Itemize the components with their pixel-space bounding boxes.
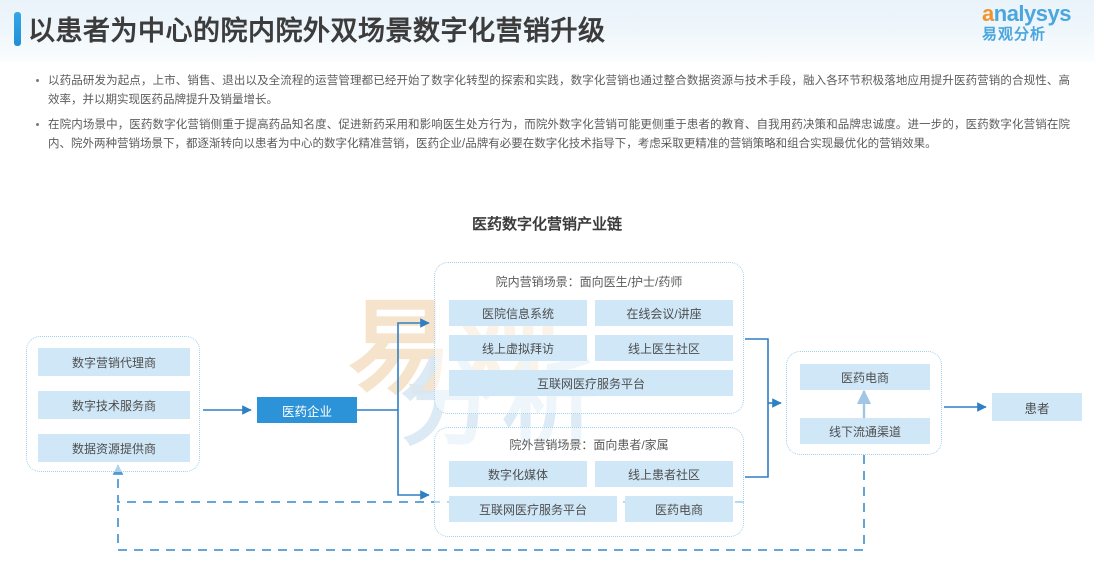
- pharma-enterprise-box[interactable]: 医药企业: [257, 397, 357, 423]
- logo-subtitle: 易观分析: [982, 26, 1094, 43]
- industry-chain-diagram: 医药数字化营销产业链 易观 分析 数字营销代理: [0, 205, 1094, 579]
- bullet-dot-icon: [36, 79, 39, 82]
- channel-group: 医药电商 线下流通渠道: [786, 351, 942, 455]
- in-hospital-item[interactable]: 线上虚拟拜访: [449, 335, 587, 361]
- bullet-item: 在院内场景中，医药数字化营销侧重于提高药品知名度、促进新药采用和影响医生处方行为…: [0, 116, 1094, 154]
- in-hospital-item[interactable]: 医院信息系统: [449, 300, 587, 326]
- in-hospital-header: 院内营销场景：面向医生/护士/药师: [435, 273, 743, 290]
- out-hospital-item[interactable]: 数字化媒体: [449, 461, 587, 487]
- logo-o-glyph: a: [982, 1, 994, 26]
- analysys-logo: analysys 易观分析: [982, 2, 1094, 48]
- logo-wordmark-text: nalysys: [994, 1, 1071, 26]
- page-title: 以患者为中心的院内院外双场景数字化营销升级: [28, 9, 606, 48]
- supplier-cell[interactable]: 数字营销代理商: [38, 348, 190, 376]
- out-hospital-item[interactable]: 线上患者社区: [595, 461, 733, 487]
- in-hospital-item[interactable]: 互联网医疗服务平台: [449, 370, 733, 396]
- logo-wordmark: analysys: [982, 2, 1094, 26]
- bullet-item: 以药品研发为起点，上市、销售、退出以及全流程的运营管理都已经开始了数字化转型的探…: [0, 72, 1094, 110]
- out-hospital-item[interactable]: 互联网医疗服务平台: [449, 496, 617, 522]
- supplier-cell[interactable]: 数字技术服务商: [38, 391, 190, 419]
- page-header: 以患者为中心的院内院外双场景数字化营销升级 analysys 易观分析: [0, 0, 1094, 62]
- suppliers-group: 数字营销代理商 数字技术服务商 数据资源提供商: [26, 336, 200, 472]
- out-hospital-group: 院外营销场景：面向患者/家属 数字化媒体 线上患者社区 互联网医疗服务平台 医药…: [434, 427, 744, 537]
- in-hospital-item[interactable]: 在线会议/讲座: [595, 300, 733, 326]
- supplier-cell[interactable]: 数据资源提供商: [38, 434, 190, 462]
- bullet-list: 以药品研发为起点，上市、销售、退出以及全流程的运营管理都已经开始了数字化转型的探…: [0, 72, 1094, 160]
- in-hospital-group: 院内营销场景：面向医生/护士/药师 医院信息系统 在线会议/讲座 线上虚拟拜访 …: [434, 262, 744, 414]
- patient-box[interactable]: 患者: [992, 393, 1082, 421]
- channel-item[interactable]: 医药电商: [800, 364, 930, 390]
- bullet-text: 在院内场景中，医药数字化营销侧重于提高药品知名度、促进新药采用和影响医生处方行为…: [48, 116, 1070, 154]
- out-hospital-item[interactable]: 医药电商: [625, 496, 733, 522]
- title-accent-bar: [14, 12, 21, 46]
- out-hospital-header: 院外营销场景：面向患者/家属: [435, 436, 743, 453]
- in-hospital-item[interactable]: 线上医生社区: [595, 335, 733, 361]
- channel-item[interactable]: 线下流通渠道: [800, 418, 930, 444]
- bullet-dot-icon: [36, 123, 39, 126]
- bullet-text: 以药品研发为起点，上市、销售、退出以及全流程的运营管理都已经开始了数字化转型的探…: [48, 72, 1070, 110]
